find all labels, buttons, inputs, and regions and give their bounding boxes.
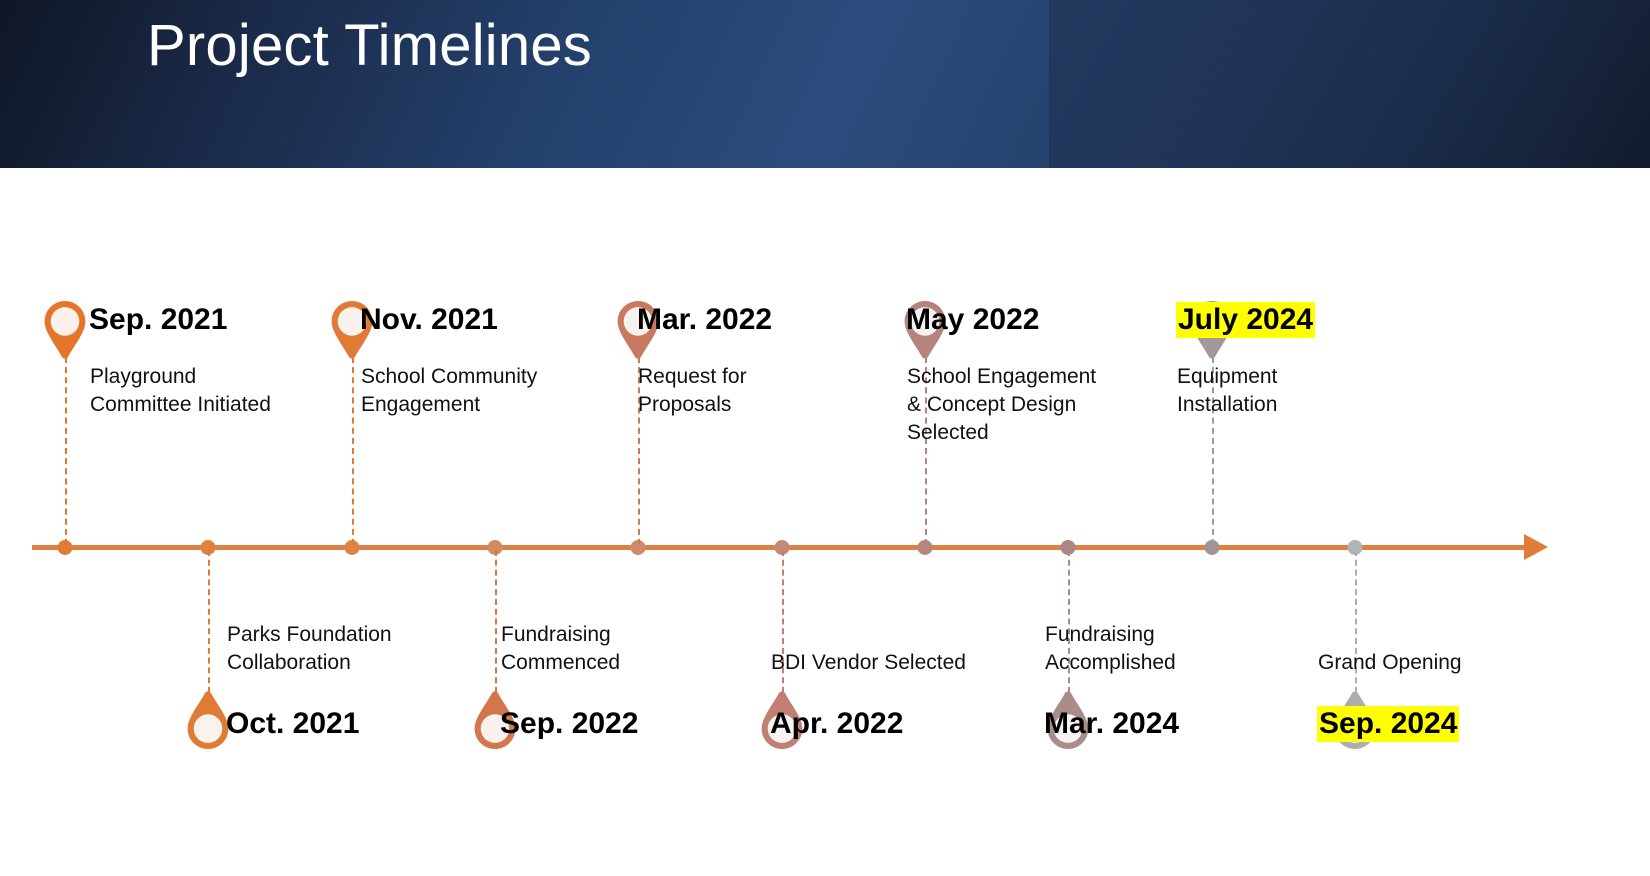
timeline-chart: Sep. 2021Playground Committee InitiatedN… <box>0 168 1650 876</box>
milestone-description: BDI Vendor Selected <box>771 649 976 677</box>
milestone-date: Apr. 2022 <box>770 707 903 742</box>
milestone-description: Parks Foundation Collaboration <box>227 621 432 677</box>
milestone-description: School Engagement & Concept Design Selec… <box>907 363 1107 447</box>
milestone-connector <box>208 550 210 693</box>
milestone-date: Sep. 2021 <box>89 303 227 338</box>
milestone-date: Nov. 2021 <box>360 303 498 338</box>
milestone-date: Mar. 2022 <box>637 303 772 338</box>
header-banner: Project Timelines <box>0 0 1650 168</box>
milestone-description: Fundraising Accomplished <box>1045 621 1250 677</box>
milestone-date: Sep. 2024 <box>1317 707 1459 742</box>
milestone-connector <box>65 357 67 545</box>
milestone-connector <box>495 550 497 693</box>
map-pin-icon <box>42 299 88 361</box>
milestone-date: May 2022 <box>906 303 1039 338</box>
header-gradient-band-right <box>1049 0 1650 168</box>
arrow-right-icon <box>1524 534 1548 560</box>
milestone-description: Playground Committee Initiated <box>90 363 290 419</box>
milestone-description: School Community Engagement <box>361 363 561 419</box>
milestone-date: Mar. 2024 <box>1044 707 1179 742</box>
milestone-description: Fundraising Commenced <box>501 621 706 677</box>
milestone-connector <box>352 357 354 545</box>
milestone-description: Grand Opening <box>1318 649 1523 677</box>
map-pin-icon <box>185 689 231 751</box>
highlight-mark: Sep. 2024 <box>1317 706 1459 742</box>
milestone-date: Oct. 2021 <box>226 707 359 742</box>
milestone-description: Request for Proposals <box>638 363 838 419</box>
milestone-description: Equipment Installation <box>1177 363 1377 419</box>
milestone-date: Sep. 2022 <box>500 707 638 742</box>
highlight-mark: July 2024 <box>1176 302 1315 338</box>
milestone-date: July 2024 <box>1176 303 1315 338</box>
page-title: Project Timelines <box>147 14 592 78</box>
